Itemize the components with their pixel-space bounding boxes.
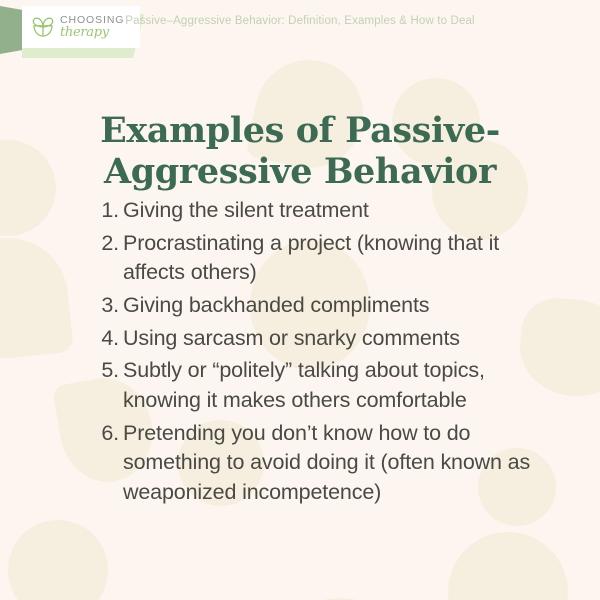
list-item-number: 4.: [96, 324, 123, 354]
list-item: 3. Giving backhanded compliments: [96, 291, 548, 321]
logo-bottom-word: therapy: [60, 26, 124, 39]
background-blob: [0, 232, 74, 364]
list-item-text: Pretending you don’t know how to do some…: [123, 419, 548, 508]
brand-logo[interactable]: CHOOSING therapy: [22, 6, 140, 48]
top-bar: CHOOSING therapy Passive–Aggressive Beha…: [0, 0, 600, 58]
list-item-number: 6.: [96, 419, 123, 449]
infographic-canvas: CHOOSING therapy Passive–Aggressive Beha…: [0, 0, 600, 600]
background-blob: [8, 520, 108, 600]
list-item: 1. Giving the silent treatment: [96, 196, 548, 226]
list-item-text: Giving the silent treatment: [123, 196, 548, 226]
list-item: 2. Procrastinating a project (knowing th…: [96, 229, 548, 288]
list-item-number: 1.: [96, 196, 123, 226]
article-title: Passive–Aggressive Behavior: Definition,…: [0, 15, 600, 27]
list-item-text: Procrastinating a project (knowing that …: [123, 229, 548, 288]
list-item-text: Using sarcasm or snarky comments: [123, 324, 548, 354]
list-item-number: 5.: [96, 356, 123, 386]
examples-list: 1. Giving the silent treatment 2. Procra…: [96, 196, 548, 511]
list-item: 4. Using sarcasm or snarky comments: [96, 324, 548, 354]
background-blob: [0, 140, 56, 236]
page-title: Examples of Passive-Aggressive Behavior: [60, 111, 540, 193]
list-item: 6. Pretending you don’t know how to do s…: [96, 419, 548, 508]
list-item: 5. Subtly or “politely” talking about to…: [96, 356, 548, 415]
list-item-text: Giving backhanded compliments: [123, 291, 548, 321]
list-item-text: Subtly or “politely” talking about topic…: [123, 356, 548, 415]
list-item-number: 3.: [96, 291, 123, 321]
list-item-number: 2.: [96, 229, 123, 259]
background-blob: [448, 532, 568, 600]
